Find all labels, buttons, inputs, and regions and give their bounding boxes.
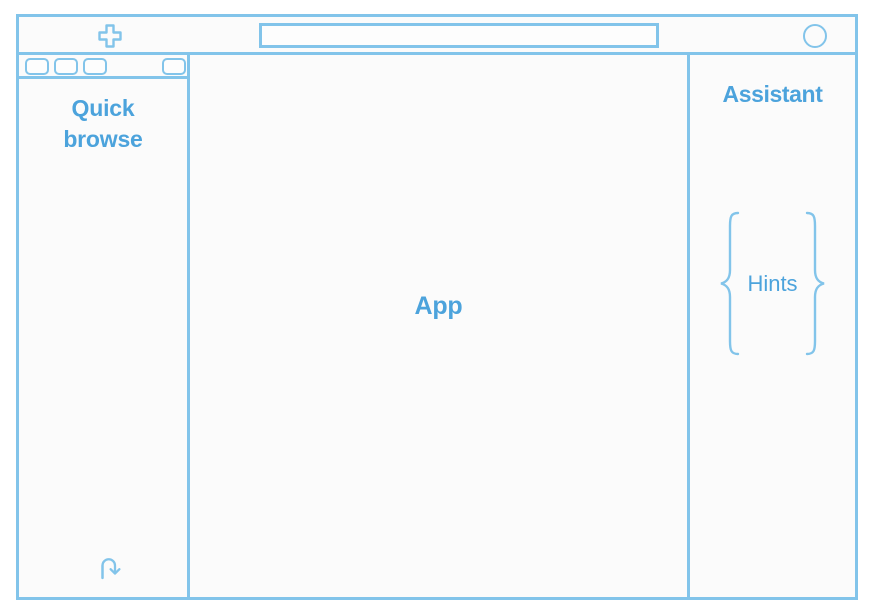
hints-label: Hints: [743, 271, 801, 297]
left-brace-icon: [717, 210, 743, 357]
header-bar: [19, 17, 855, 55]
sidebar-panel: Quick browse: [19, 55, 190, 597]
hints-block[interactable]: Hints: [702, 210, 843, 357]
assistant-panel: Assistant Hints: [690, 55, 855, 597]
sidebar-tool-chip-4[interactable]: [162, 58, 186, 75]
plus-icon[interactable]: [97, 24, 123, 50]
sidebar-tool-chip-1[interactable]: [25, 58, 49, 75]
sidebar-tool-chip-3[interactable]: [83, 58, 107, 75]
account-circle-icon[interactable]: [803, 24, 827, 48]
sidebar-title: Quick browse: [19, 93, 187, 155]
sidebar-tool-chip-2[interactable]: [54, 58, 78, 75]
sidebar-title-line-1: Quick: [19, 93, 187, 124]
app-canvas[interactable]: App: [190, 55, 690, 597]
undo-uturn-arrow-icon[interactable]: [95, 553, 125, 583]
search-input[interactable]: [259, 23, 659, 48]
app-window-frame: Quick browse App Assistant: [16, 14, 858, 600]
right-brace-icon: [802, 210, 828, 357]
sidebar-title-line-2: browse: [19, 124, 187, 155]
window-body: Quick browse App Assistant: [19, 55, 855, 597]
sidebar-toolbar: [19, 55, 187, 79]
assistant-title: Assistant: [690, 81, 855, 108]
wireframe-root: Quick browse App Assistant: [0, 0, 879, 616]
app-label: App: [190, 55, 687, 597]
